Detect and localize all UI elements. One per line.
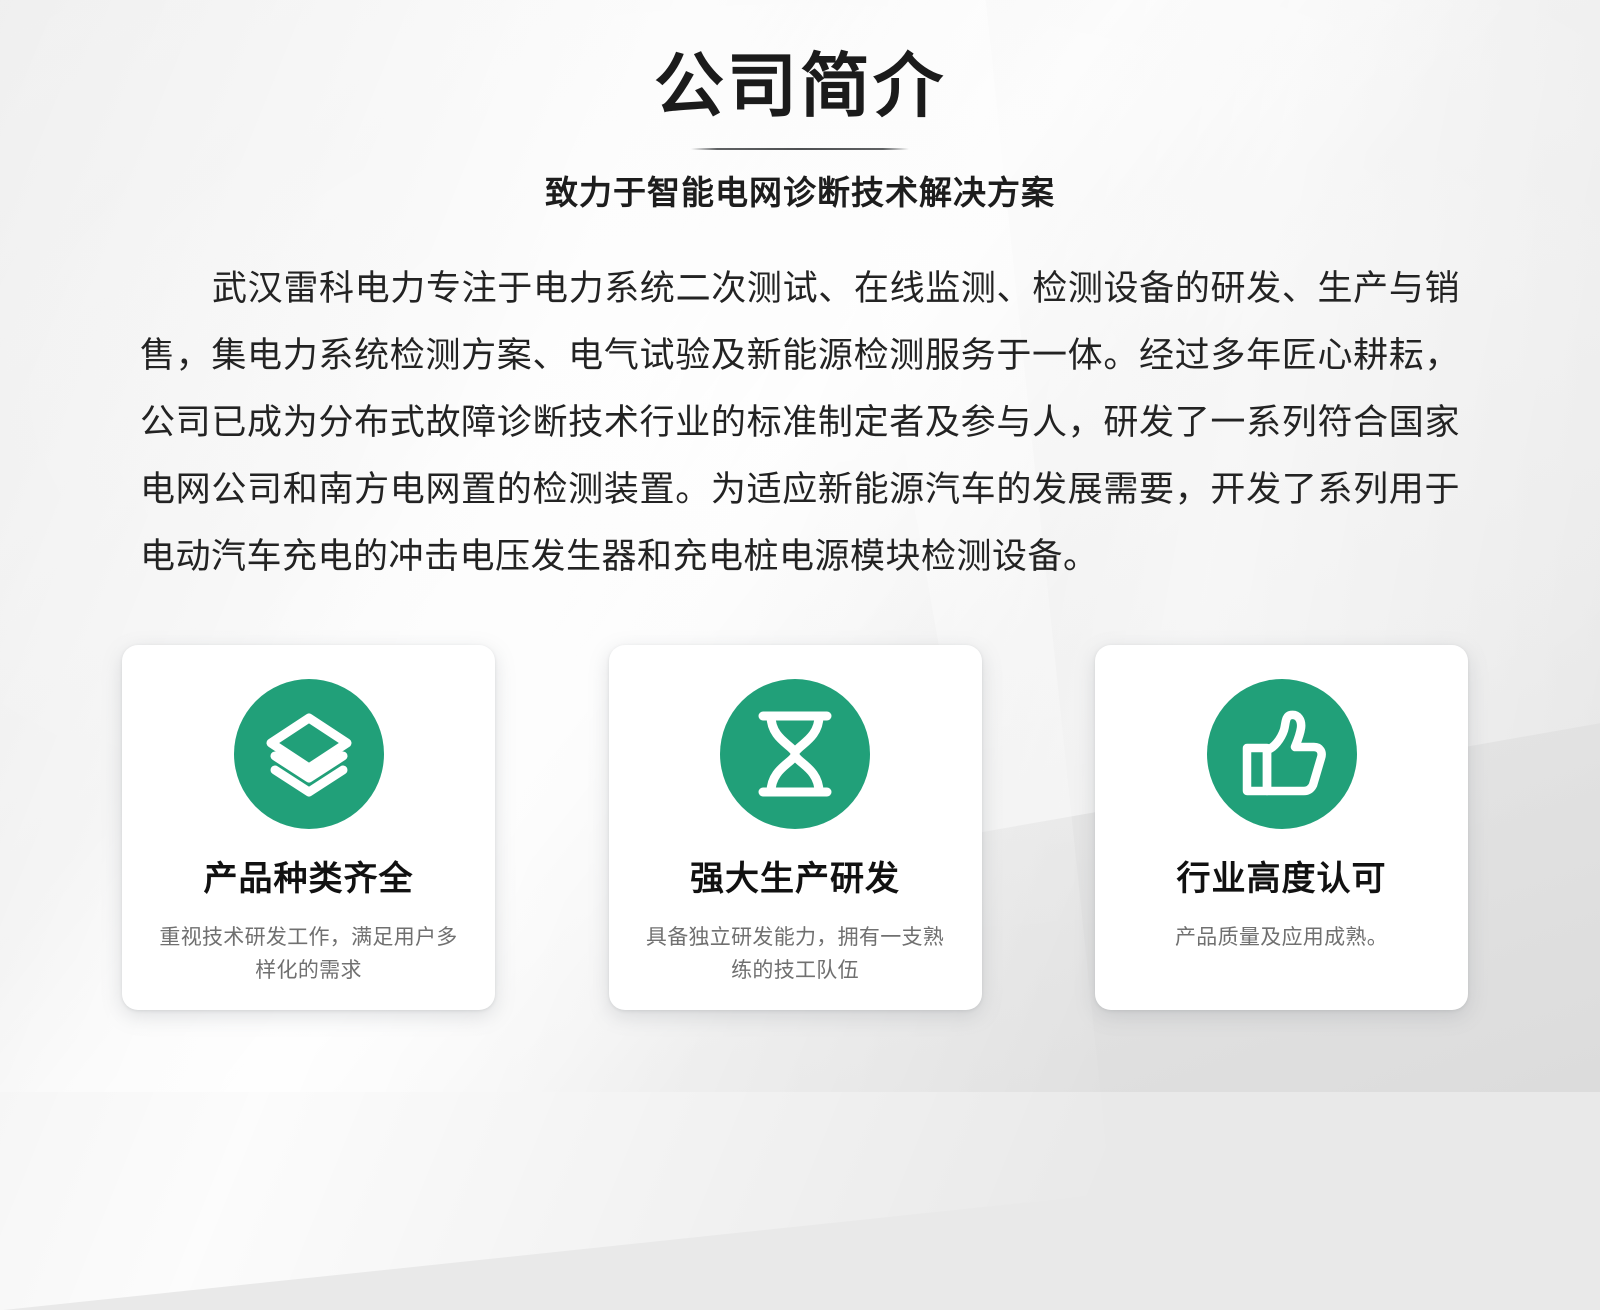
feature-card[interactable]: 行业高度认可 产品质量及应用成熟。 [1095,645,1468,1010]
feature-card-title: 强大生产研发 [690,859,900,899]
title-divider [691,148,909,150]
thumbs-up-icon [1207,679,1357,829]
page-title: 公司简介 [0,44,1600,128]
feature-card-title: 产品种类齐全 [204,859,414,899]
hourglass-icon [720,679,870,829]
layers-icon [234,679,384,829]
company-profile-section: 公司简介 致力于智能电网诊断技术解决方案 武汉雷科电力专注于电力系统二次测试、在… [0,0,1600,1092]
page-subtitle: 致力于智能电网诊断技术解决方案 [0,172,1600,214]
feature-card[interactable]: 产品种类齐全 重视技术研发工作，满足用户多样化的需求 [122,645,495,1010]
intro-paragraph: 武汉雷科电力专注于电力系统二次测试、在线监测、检测设备的研发、生产与销售，集电力… [140,255,1460,590]
feature-card-list: 产品种类齐全 重视技术研发工作，满足用户多样化的需求 强大生产研发 具备独立研发… [122,645,1468,1010]
feature-card-description: 重视技术研发工作，满足用户多样化的需求 [159,921,459,987]
section-header: 公司简介 致力于智能电网诊断技术解决方案 [0,44,1600,214]
feature-card-description: 具备独立研发能力，拥有一支熟练的技工队伍 [645,921,945,987]
feature-card-description: 产品质量及应用成熟。 [1132,921,1432,954]
feature-card-title: 行业高度认可 [1177,859,1387,899]
feature-card[interactable]: 强大生产研发 具备独立研发能力，拥有一支熟练的技工队伍 [609,645,982,1010]
